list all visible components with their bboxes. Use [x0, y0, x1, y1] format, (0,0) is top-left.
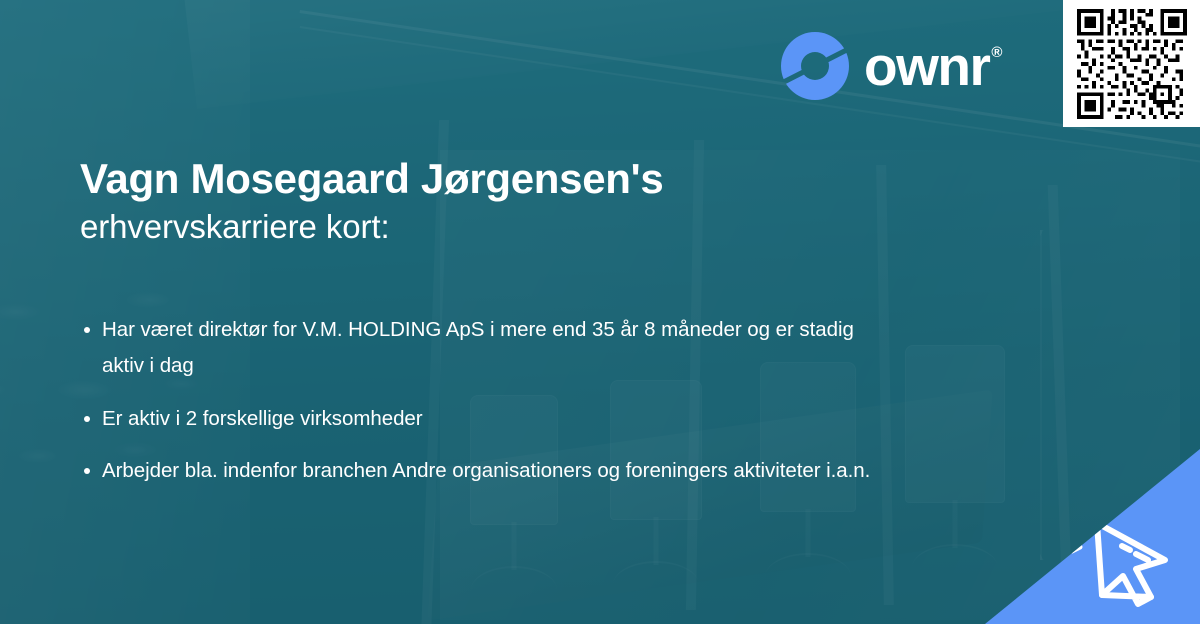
headline-line-1: Vagn Mosegaard Jørgensen's: [80, 155, 940, 202]
bullet-dot-icon: [84, 327, 90, 333]
bullet-dot-icon: [84, 416, 90, 422]
list-item-text: Er aktiv i 2 forskellige virksomheder: [102, 407, 423, 430]
registered-mark: ®: [991, 45, 1001, 60]
ownr-logo[interactable]: ownr ®: [779, 30, 1001, 102]
qr-code-panel[interactable]: [1063, 0, 1200, 127]
list-item: Arbejder bla. indenfor branchen Andre or…: [80, 453, 900, 489]
career-facts-list: Har været direktør for V.M. HOLDING ApS …: [80, 312, 900, 490]
career-card: ownr ®: [0, 0, 1200, 624]
page-title: Vagn Mosegaard Jørgensen's erhvervskarri…: [80, 155, 940, 247]
qr-code: [1072, 9, 1192, 119]
headline-line-2: erhvervskarriere kort:: [80, 206, 940, 247]
ownr-circle-mark-icon: [779, 30, 851, 102]
bullet-dot-icon: [84, 468, 90, 474]
list-item-text: Arbejder bla. indenfor branchen Andre or…: [102, 459, 870, 482]
list-item: Er aktiv i 2 forskellige virksomheder: [80, 401, 900, 437]
ownr-wordmark: ownr: [864, 39, 989, 94]
list-item: Har været direktør for V.M. HOLDING ApS …: [80, 312, 900, 385]
list-item-text: Har været direktør for V.M. HOLDING ApS …: [102, 318, 854, 377]
